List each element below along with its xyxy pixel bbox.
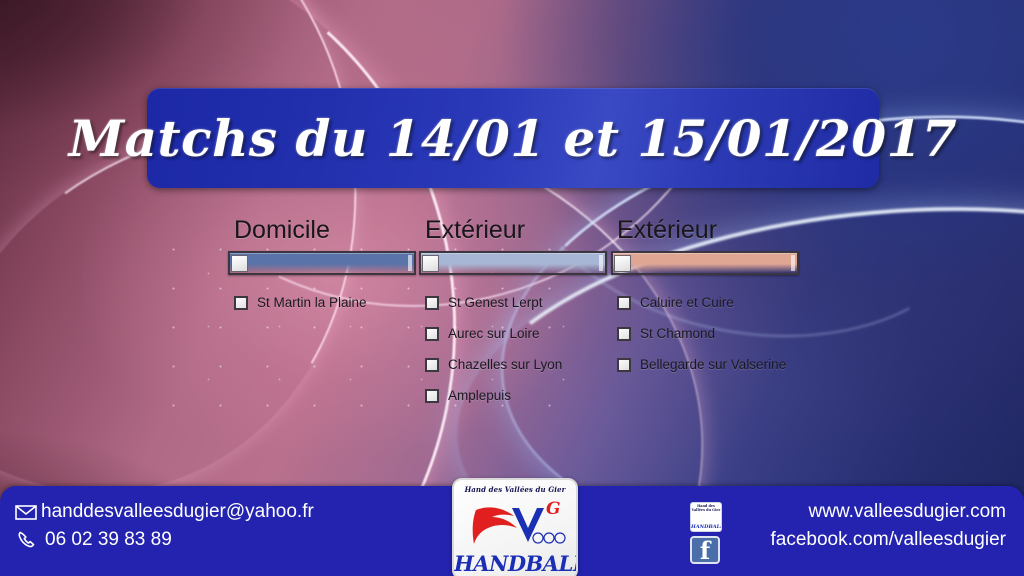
facebook-icon[interactable]: f bbox=[690, 536, 720, 564]
column-list-1: St Martin la Plaine bbox=[228, 287, 416, 318]
bar-start-cap-3 bbox=[614, 255, 631, 272]
list-item-label: St Martin la Plaine bbox=[257, 295, 367, 310]
column-list-2: St Genest Lerpt Aurec sur Loire Chazelle… bbox=[419, 287, 607, 411]
column-header-2: Extérieur bbox=[419, 218, 607, 243]
footer-contact-block: handdesvalleesdugier@yahoo.fr 06 02 39 8… bbox=[14, 498, 314, 554]
column-list-3: Caluire et Cuire St Chamond Bellegarde s… bbox=[611, 287, 799, 380]
bar-start-cap-1 bbox=[231, 255, 248, 272]
list-item[interactable]: Caluire et Cuire bbox=[611, 287, 799, 318]
footer-social-block: Hand des Vallées du Gier HANDBALL f bbox=[690, 502, 724, 564]
title-banner: Matchs du 14/01 et 15/01/2017 bbox=[147, 88, 879, 188]
list-item-label: Caluire et Cuire bbox=[640, 295, 734, 310]
columns-area: Domicile St Martin la Plaine Extérieur bbox=[0, 218, 1024, 438]
footer-email-text: handdesvalleesdugier@yahoo.fr bbox=[41, 501, 314, 523]
footer-email-row[interactable]: handdesvalleesdugier@yahoo.fr bbox=[14, 498, 314, 526]
footer-phone-row[interactable]: 06 02 39 83 89 bbox=[14, 526, 314, 554]
footer-links-block: www.valleesdugier.com facebook.com/valle… bbox=[770, 498, 1006, 554]
footer-phone-text: 06 02 39 83 89 bbox=[45, 529, 172, 551]
list-item-label: Amplepuis bbox=[448, 388, 511, 403]
list-item[interactable]: Aurec sur Loire bbox=[419, 318, 607, 349]
column-header-1: Domicile bbox=[228, 218, 416, 243]
list-item-label: St Chamond bbox=[640, 326, 715, 341]
list-item[interactable]: Chazelles sur Lyon bbox=[419, 349, 607, 380]
phone-icon bbox=[15, 530, 39, 550]
bar-end-cap-2 bbox=[599, 255, 603, 271]
footer-bar: handdesvalleesdugier@yahoo.fr 06 02 39 8… bbox=[0, 486, 1024, 576]
list-item-label: Bellegarde sur Valserine bbox=[640, 357, 786, 372]
column-domicile: Domicile St Martin la Plaine bbox=[228, 218, 416, 318]
club-logo-emblem: G bbox=[454, 494, 576, 550]
checkbox-icon[interactable] bbox=[234, 296, 248, 310]
poster-canvas: Matchs du 14/01 et 15/01/2017 Domicile S… bbox=[0, 0, 1024, 576]
list-item[interactable]: St Chamond bbox=[611, 318, 799, 349]
club-logo-small-wordmark: HANDBALL bbox=[691, 524, 721, 530]
club-logo-caption: Hand des Vallées du Gier bbox=[454, 485, 576, 494]
list-item[interactable]: St Genest Lerpt bbox=[419, 287, 607, 318]
checkbox-icon[interactable] bbox=[617, 327, 631, 341]
checkbox-icon[interactable] bbox=[617, 358, 631, 372]
checkbox-icon[interactable] bbox=[425, 389, 439, 403]
facebook-link[interactable]: facebook.com/valleesdugier bbox=[770, 526, 1006, 554]
page-title: Matchs du 14/01 et 15/01/2017 bbox=[69, 109, 957, 168]
list-item[interactable]: Amplepuis bbox=[419, 380, 607, 411]
list-item-label: Chazelles sur Lyon bbox=[448, 357, 562, 372]
club-logo-small-caption: Hand des Vallées du Gier bbox=[691, 504, 721, 512]
column-bar-3 bbox=[611, 251, 799, 275]
checkbox-icon[interactable] bbox=[425, 358, 439, 372]
column-header-3: Extérieur bbox=[611, 218, 799, 243]
club-logo-wordmark: HANDBALL bbox=[454, 553, 576, 574]
column-bar-2 bbox=[419, 251, 607, 275]
bar-end-cap-1 bbox=[408, 255, 412, 271]
website-link[interactable]: www.valleesdugier.com bbox=[770, 498, 1006, 526]
list-item[interactable]: Bellegarde sur Valserine bbox=[611, 349, 799, 380]
column-exterieur-1: Extérieur St Genest Lerpt Aurec sur Loir… bbox=[419, 218, 607, 411]
checkbox-icon[interactable] bbox=[425, 327, 439, 341]
facebook-glyph: f bbox=[700, 540, 710, 562]
list-item-label: Aurec sur Loire bbox=[448, 326, 540, 341]
list-item[interactable]: St Martin la Plaine bbox=[228, 287, 416, 318]
column-bar-1 bbox=[228, 251, 416, 275]
list-item-label: St Genest Lerpt bbox=[448, 295, 543, 310]
checkbox-icon[interactable] bbox=[425, 296, 439, 310]
club-logo: Hand des Vallées du Gier G HANDBALL bbox=[452, 478, 578, 576]
club-logo-small-icon[interactable]: Hand des Vallées du Gier HANDBALL bbox=[690, 502, 722, 532]
envelope-icon bbox=[14, 502, 38, 522]
checkbox-icon[interactable] bbox=[617, 296, 631, 310]
column-exterieur-2: Extérieur Caluire et Cuire St Chamond Be… bbox=[611, 218, 799, 380]
bar-start-cap-2 bbox=[422, 255, 439, 272]
svg-text:G: G bbox=[546, 499, 561, 519]
bar-end-cap-3 bbox=[791, 255, 795, 271]
